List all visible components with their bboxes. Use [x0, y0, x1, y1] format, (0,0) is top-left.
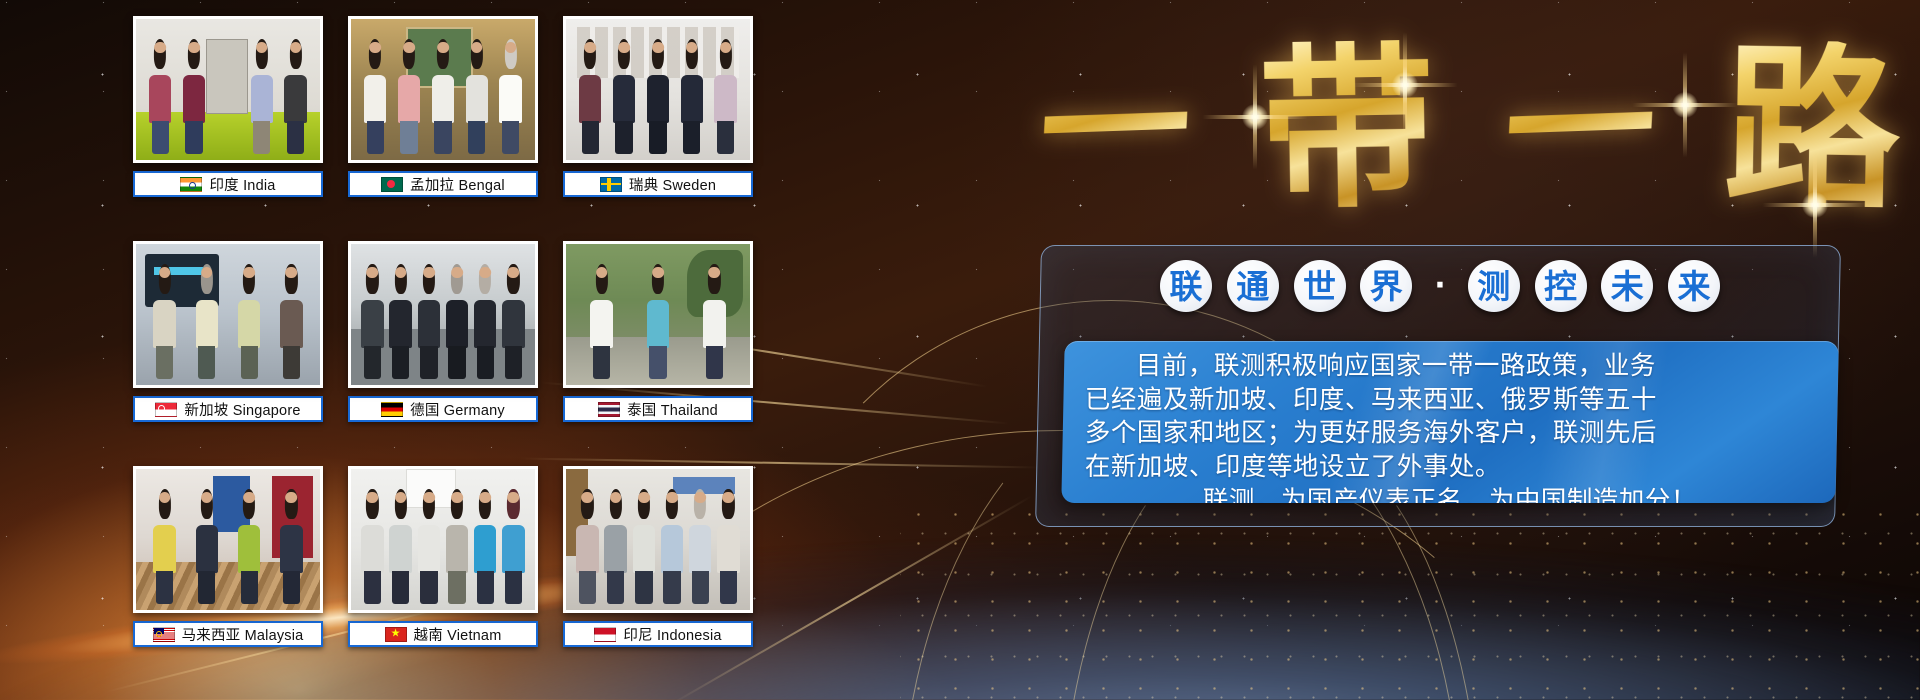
- description-text: 目前，联测积极响应国家一带一路政策，业务 已经遍及新加坡、印度、马来西亚、俄罗斯…: [1063, 341, 1837, 503]
- slogan-separator-dot: ·: [1427, 260, 1453, 312]
- grid-cell[interactable]: 马来西亚 Malaysia: [133, 466, 323, 681]
- caption-germany[interactable]: 德国 Germany: [348, 396, 538, 422]
- caption-malaysia[interactable]: 马来西亚 Malaysia: [133, 621, 323, 647]
- calligraphy-char-3: 一: [1501, 51, 1659, 206]
- slogan-row: 联 通 世 界 · 测 控 未 来: [1160, 255, 1720, 317]
- slogan-char-3: 世: [1294, 260, 1346, 312]
- caption-label: 泰国 Thailand: [627, 399, 718, 420]
- description-card: 目前，联测积极响应国家一带一路政策，业务 已经遍及新加坡、印度、马来西亚、俄罗斯…: [1061, 341, 1838, 503]
- slogan-char-1: 联: [1160, 260, 1212, 312]
- description-line: 目前，联测积极响应国家一带一路政策，业务: [1085, 350, 1815, 384]
- description-line: 多个国家和地区；为更好服务海外客户，联测先后: [1085, 417, 1815, 451]
- photo-germany: [348, 241, 538, 388]
- caption-indonesia[interactable]: 印尼 Indonesia: [563, 621, 753, 647]
- flag-vietnam-icon: [385, 627, 407, 642]
- photo-sweden: [563, 16, 753, 163]
- caption-label: 瑞典 Sweden: [629, 174, 716, 195]
- caption-label: 印度 India: [209, 174, 275, 195]
- caption-label: 孟加拉 Bengal: [410, 174, 505, 195]
- grid-cell[interactable]: 孟加拉 Bengal: [348, 16, 538, 231]
- photo-malaysia: [133, 466, 323, 613]
- flag-singapore-icon: [155, 402, 177, 417]
- slogan-char-5: 测: [1468, 260, 1520, 312]
- photo-vietnam: [348, 466, 538, 613]
- caption-bengal[interactable]: 孟加拉 Bengal: [348, 171, 538, 197]
- caption-label: 德国 Germany: [410, 399, 505, 420]
- photo-bengal: [348, 16, 538, 163]
- flag-indonesia-icon: [594, 627, 616, 642]
- caption-thailand[interactable]: 泰国 Thailand: [563, 396, 753, 422]
- grid-cell[interactable]: 德国 Germany: [348, 241, 538, 456]
- grid-cell[interactable]: 印尼 Indonesia: [563, 466, 753, 681]
- slogan-char-4: 界: [1360, 260, 1412, 312]
- photo-india: [133, 16, 323, 163]
- flag-india-icon: [180, 177, 202, 192]
- slogan-char-8: 来: [1668, 260, 1720, 312]
- caption-label: 新加坡 Singapore: [184, 399, 300, 420]
- calligraphy-char-1: 一: [1036, 51, 1194, 206]
- belt-and-road-title: 一 带 一 路: [1030, 14, 1910, 244]
- grid-cell[interactable]: 印度 India: [133, 16, 323, 231]
- caption-label: 马来西亚 Malaysia: [182, 624, 304, 645]
- flag-sweden-icon: [600, 177, 622, 192]
- slogan-char-6: 控: [1535, 260, 1587, 312]
- flag-bangladesh-icon: [381, 177, 403, 192]
- description-line: 在新加坡、印度等地设立了外事处。: [1085, 451, 1815, 485]
- grid-cell[interactable]: 瑞典 Sweden: [563, 16, 753, 231]
- caption-label: 越南 Vietnam: [414, 624, 502, 645]
- caption-india[interactable]: 印度 India: [133, 171, 323, 197]
- caption-singapore[interactable]: 新加坡 Singapore: [133, 396, 323, 422]
- caption-label: 印尼 Indonesia: [623, 624, 721, 645]
- flag-thailand-icon: [598, 402, 620, 417]
- calligraphy-char-4: 路: [1722, 39, 1901, 218]
- grid-cell[interactable]: 新加坡 Singapore: [133, 241, 323, 456]
- flag-germany-icon: [381, 402, 403, 417]
- flag-malaysia-icon: [153, 627, 175, 642]
- slogan-char-7: 未: [1601, 260, 1653, 312]
- slogan-char-2: 通: [1227, 260, 1279, 312]
- caption-vietnam[interactable]: 越南 Vietnam: [348, 621, 538, 647]
- photo-singapore: [133, 241, 323, 388]
- description-line: 已经遍及新加坡、印度、马来西亚、俄罗斯等五十: [1085, 384, 1815, 418]
- caption-sweden[interactable]: 瑞典 Sweden: [563, 171, 753, 197]
- photo-thailand: [563, 241, 753, 388]
- grid-cell[interactable]: 越南 Vietnam: [348, 466, 538, 681]
- description-line: 联测，为国产仪表正名，为中国制造加分！: [1085, 485, 1815, 503]
- photo-indonesia: [563, 466, 753, 613]
- banner-stage: 印度 India 孟加拉 Bengal: [0, 0, 1920, 700]
- city-lights: [900, 500, 1920, 700]
- grid-cell[interactable]: 泰国 Thailand: [563, 241, 753, 456]
- calligraphy-char-2: 带: [1258, 39, 1437, 218]
- country-photo-grid: 印度 India 孟加拉 Bengal: [133, 16, 773, 686]
